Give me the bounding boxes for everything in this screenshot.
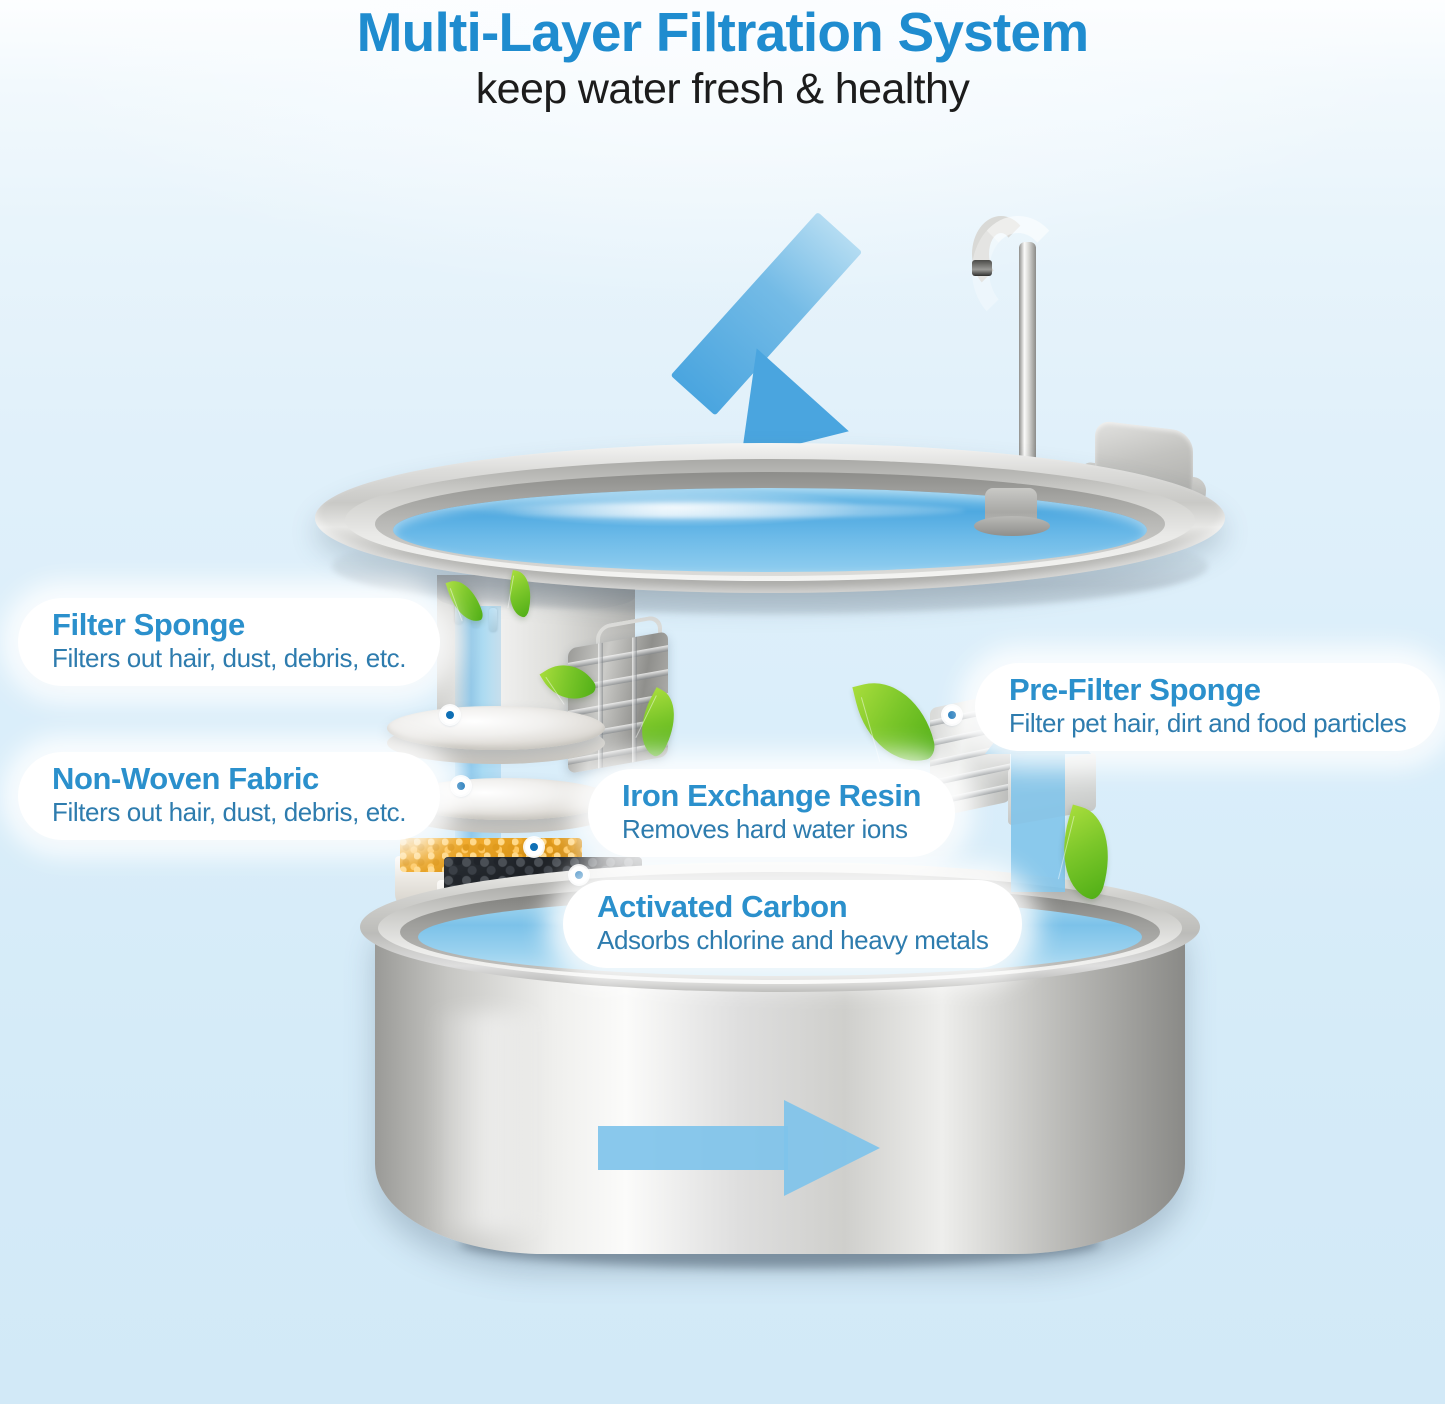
callout-non-woven-fabric[interactable]: Non-Woven Fabric Filters out hair, dust,… bbox=[18, 752, 440, 840]
callout-title: Iron Exchange Resin bbox=[622, 779, 921, 814]
faucet-base-plate bbox=[974, 516, 1050, 536]
connector-dot bbox=[525, 838, 543, 856]
callout-desc: Removes hard water ions bbox=[622, 815, 921, 845]
callout-desc: Filters out hair, dust, debris, etc. bbox=[52, 644, 406, 674]
callout-iron-exchange-resin[interactable]: Iron Exchange Resin Removes hard water i… bbox=[588, 769, 955, 857]
connector-dot bbox=[452, 777, 470, 795]
callout-title: Filter Sponge bbox=[52, 608, 406, 643]
connector-dot bbox=[441, 706, 459, 724]
callout-desc: Filter pet hair, dirt and food particles bbox=[1009, 709, 1406, 739]
connector-dot bbox=[943, 706, 961, 724]
leaf-icon bbox=[852, 671, 937, 772]
callout-desc: Adsorbs chlorine and heavy metals bbox=[597, 926, 988, 956]
callout-pre-filter-sponge[interactable]: Pre-Filter Sponge Filter pet hair, dirt … bbox=[975, 663, 1440, 751]
callout-filter-sponge[interactable]: Filter Sponge Filters out hair, dust, de… bbox=[18, 598, 440, 686]
circulation-arrow-icon bbox=[598, 1100, 898, 1196]
tray-water-highlight bbox=[465, 503, 965, 518]
callout-desc: Filters out hair, dust, debris, etc. bbox=[52, 798, 406, 828]
infographic-canvas: Multi-Layer Filtration System keep water… bbox=[0, 0, 1445, 1404]
callout-title: Non-Woven Fabric bbox=[52, 762, 406, 797]
upper-tray bbox=[315, 443, 1225, 603]
filter-sponge-disc bbox=[387, 706, 605, 750]
bowl-highlight bbox=[430, 1012, 550, 1232]
inflow-arrow-icon bbox=[690, 238, 1010, 468]
callout-title: Activated Carbon bbox=[597, 890, 988, 925]
connector-dot bbox=[570, 866, 588, 884]
callout-title: Pre-Filter Sponge bbox=[1009, 673, 1406, 708]
callout-activated-carbon[interactable]: Activated Carbon Adsorbs chlorine and he… bbox=[563, 880, 1022, 968]
